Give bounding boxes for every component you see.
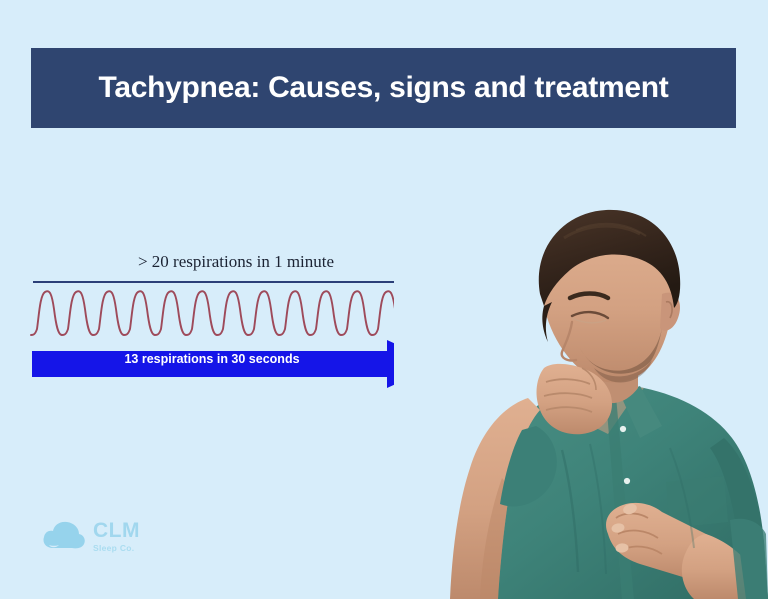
cloud-icon: [42, 521, 86, 551]
diagram-divider-rule: [33, 281, 438, 283]
poster-canvas: Tachypnea: Causes, signs and treatment >…: [0, 0, 768, 599]
respiration-caption: > 20 respirations in 1 minute: [30, 252, 442, 272]
respiration-waveform: [30, 285, 442, 337]
respiration-rate-diagram: > 20 respirations in 1 minute 13 respira…: [30, 252, 442, 388]
brand-logo[interactable]: CLM Sleep Co.: [42, 514, 162, 558]
coughing-man-illustration: [394, 182, 768, 599]
coughing-man-photo: [394, 182, 768, 599]
title-banner: Tachypnea: Causes, signs and treatment: [31, 48, 736, 128]
arrow-shape: [32, 340, 442, 388]
brand-name: CLM: [93, 520, 140, 541]
brand-wordmark: CLM Sleep Co.: [93, 520, 140, 553]
brand-tagline: Sleep Co.: [93, 544, 140, 553]
duration-arrow: 13 respirations in 30 seconds: [32, 340, 442, 388]
page-title: Tachypnea: Causes, signs and treatment: [99, 71, 669, 105]
